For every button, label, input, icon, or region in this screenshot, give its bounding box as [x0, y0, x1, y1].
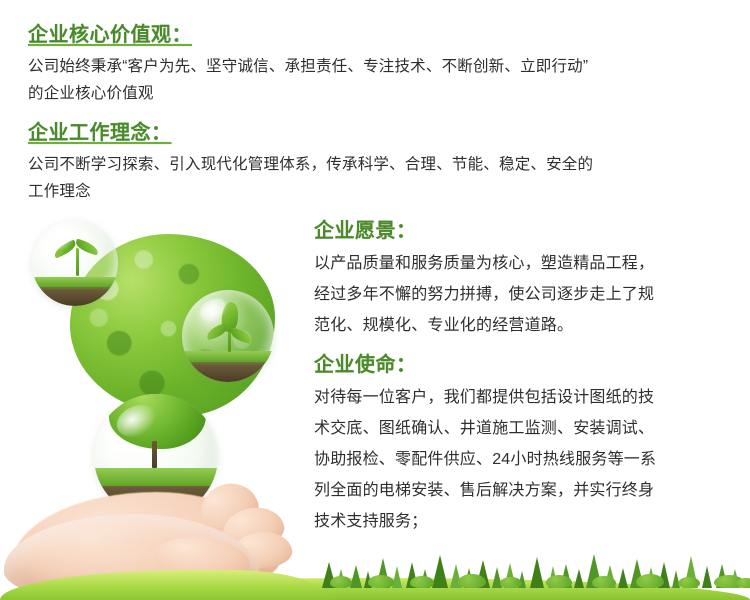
conifer-tree-icon: [702, 566, 712, 588]
shrub-icon: [330, 576, 352, 588]
section-mission: 企业使命： 对待每一位客户，我们都提供包括设计图纸的技 术交底、图纸确认、井道施…: [314, 352, 744, 537]
mission-line-2: 术交底、图纸确认、井道施工监测、安装调试、: [314, 413, 744, 444]
sprout-stem: [76, 248, 79, 276]
conifer-tree-icon: [530, 557, 544, 588]
shrub-icon: [546, 575, 572, 588]
section-core-values: 企业核心价值观： 公司始终秉承“客户为先、坚守诚信、承担责任、专注技术、不断创新…: [28, 22, 738, 107]
shrub-icon: [458, 574, 486, 588]
core-values-line-1: 公司始终秉承“客户为先、坚守诚信、承担责任、专注技术、不断创新、立即行动”: [28, 53, 738, 80]
shrub-icon: [678, 577, 700, 588]
conifer-tree-icon: [432, 555, 448, 588]
shrub-icon: [736, 578, 750, 588]
mission-heading: 企业使命：: [314, 352, 744, 378]
sprout-leaf-right: [229, 327, 253, 344]
mission-body: 对待每一位客户，我们都提供包括设计图纸的技 术交底、图纸确认、井道施工监测、安装…: [314, 382, 744, 537]
mission-line-5: 技术支持服务；: [314, 506, 744, 537]
work-philosophy-body: 公司不断学习探索、引入现代化管理体系，传承科学、合理、节能、稳定、安全的 工作理…: [28, 151, 738, 205]
mission-line-1: 对待每一位客户，我们都提供包括设计图纸的技: [314, 382, 744, 413]
core-values-body: 公司始终秉承“客户为先、坚守诚信、承担责任、专注技术、不断创新、立即行动” 的企…: [28, 53, 738, 107]
promo-page: 企业核心价值观： 公司始终秉承“客户为先、坚守诚信、承担责任、专注技术、不断创新…: [0, 0, 750, 600]
core-values-line-2: 的企业核心价值观: [28, 80, 738, 107]
conifer-tree-icon: [350, 565, 362, 588]
glass-bubble-seedling-top-icon: [32, 220, 118, 306]
mission-line-3: 协助报检、零配件供应、24小时热线服务等一系: [314, 444, 744, 475]
shrub-icon: [368, 575, 394, 588]
grass-strip-left: [0, 570, 330, 600]
mission-line-4: 列全面的电梯安装、售后解决方案，并实行终身: [314, 475, 744, 506]
shrub-icon: [500, 577, 522, 588]
vision-line-2: 经过多年不懈的努力拼搏，使公司逐步走上了规: [314, 279, 744, 310]
work-philosophy-heading: 企业工作理念：: [28, 120, 738, 146]
work-philosophy-line-2: 工作理念: [28, 178, 738, 205]
shrub-icon: [410, 576, 434, 588]
glass-bubble-seedling-right-icon: [182, 290, 274, 382]
vision-line-1: 以产品质量和服务质量为核心，塑造精品工程，: [314, 248, 744, 279]
conifer-tree-icon: [618, 568, 628, 588]
conifer-tree-icon: [392, 566, 402, 588]
vision-heading: 企业愿景：: [314, 218, 744, 244]
vision-body: 以产品质量和服务质量为核心，塑造精品工程， 经过多年不懈的努力拼搏，使公司逐步走…: [314, 248, 744, 341]
section-vision: 企业愿景： 以产品质量和服务质量为核心，塑造精品工程， 经过多年不懈的努力拼搏，…: [314, 218, 744, 341]
globe-tree-trunk: [152, 441, 157, 468]
eco-green-illustration: [10, 212, 330, 600]
shrub-icon: [636, 574, 664, 588]
vision-line-3: 范化、规模化、专业化的经营道路。: [314, 310, 744, 341]
conifer-treeline: [0, 544, 750, 600]
work-philosophy-line-1: 公司不断学习探索、引入现代化管理体系，传承科学、合理、节能、稳定、安全的: [28, 151, 738, 178]
conifer-tree-icon: [574, 569, 584, 588]
shrub-icon: [592, 576, 616, 588]
section-work-philosophy: 企业工作理念： 公司不断学习探索、引入现代化管理体系，传承科学、合理、节能、稳定…: [28, 120, 738, 205]
core-values-heading: 企业核心价值观：: [28, 22, 738, 48]
